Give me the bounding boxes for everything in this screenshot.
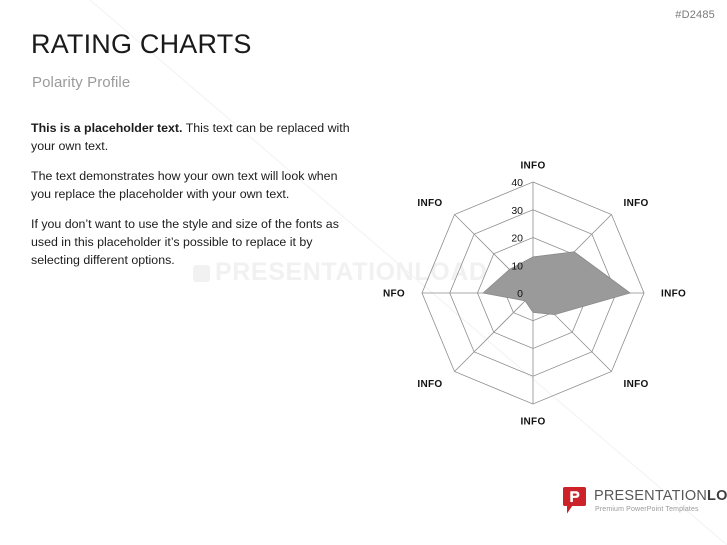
paragraph-1: This is a placeholder text. This text ca… <box>31 120 351 155</box>
radar-tick-label-20: 20 <box>511 233 523 245</box>
presentationload-logo: PRESENTATIONLOAD® Premium PowerPoint Tem… <box>563 487 713 519</box>
radar-axis-label-0: INFO <box>520 161 545 172</box>
paragraph-2: The text demonstrates how your own text … <box>31 168 351 203</box>
slide-canvas: #D2485 RATING CHARTS Polarity Profile Th… <box>0 0 727 545</box>
logo-tagline: Premium PowerPoint Templates <box>595 506 699 513</box>
radar-chart: 010203040 INFOINFOINFOINFOINFOINFOINFOIN… <box>383 148 703 438</box>
logo-wordmark: PRESENTATIONLOAD® <box>594 488 727 504</box>
paragraph-3: If you don’t want to use the style and s… <box>31 216 351 269</box>
logo-name-light: PRESENTATION <box>594 488 707 504</box>
paragraph-1-bold: This is a placeholder text. <box>31 121 183 135</box>
radar-tick-label-40: 40 <box>511 177 523 189</box>
radar-axis-label-3: INFO <box>624 379 649 390</box>
radar-tick-label-30: 30 <box>511 205 523 217</box>
speech-bubble-logo-icon <box>563 487 586 514</box>
radar-series-polygon <box>483 252 630 315</box>
radar-axis-label-7: INFO <box>417 198 442 209</box>
radar-axis-label-6: INFO <box>383 289 405 300</box>
radar-axis-label-1: INFO <box>624 198 649 209</box>
body-copy-block: This is a placeholder text. This text ca… <box>31 120 351 282</box>
radar-axis-label-5: INFO <box>417 379 442 390</box>
document-id: #D2485 <box>675 9 715 21</box>
radar-chart-svg: 010203040 INFOINFOINFOINFOINFOINFOINFOIN… <box>383 148 703 438</box>
logo-name-bold: LOAD <box>707 488 727 504</box>
radar-tick-label-0: 0 <box>517 288 523 300</box>
radar-tick-label-10: 10 <box>511 260 523 272</box>
page-subtitle: Polarity Profile <box>32 74 130 91</box>
radar-axis-label-4: INFO <box>520 417 545 428</box>
page-title: RATING CHARTS <box>31 30 252 60</box>
radar-axis-label-2: INFO <box>661 289 686 300</box>
